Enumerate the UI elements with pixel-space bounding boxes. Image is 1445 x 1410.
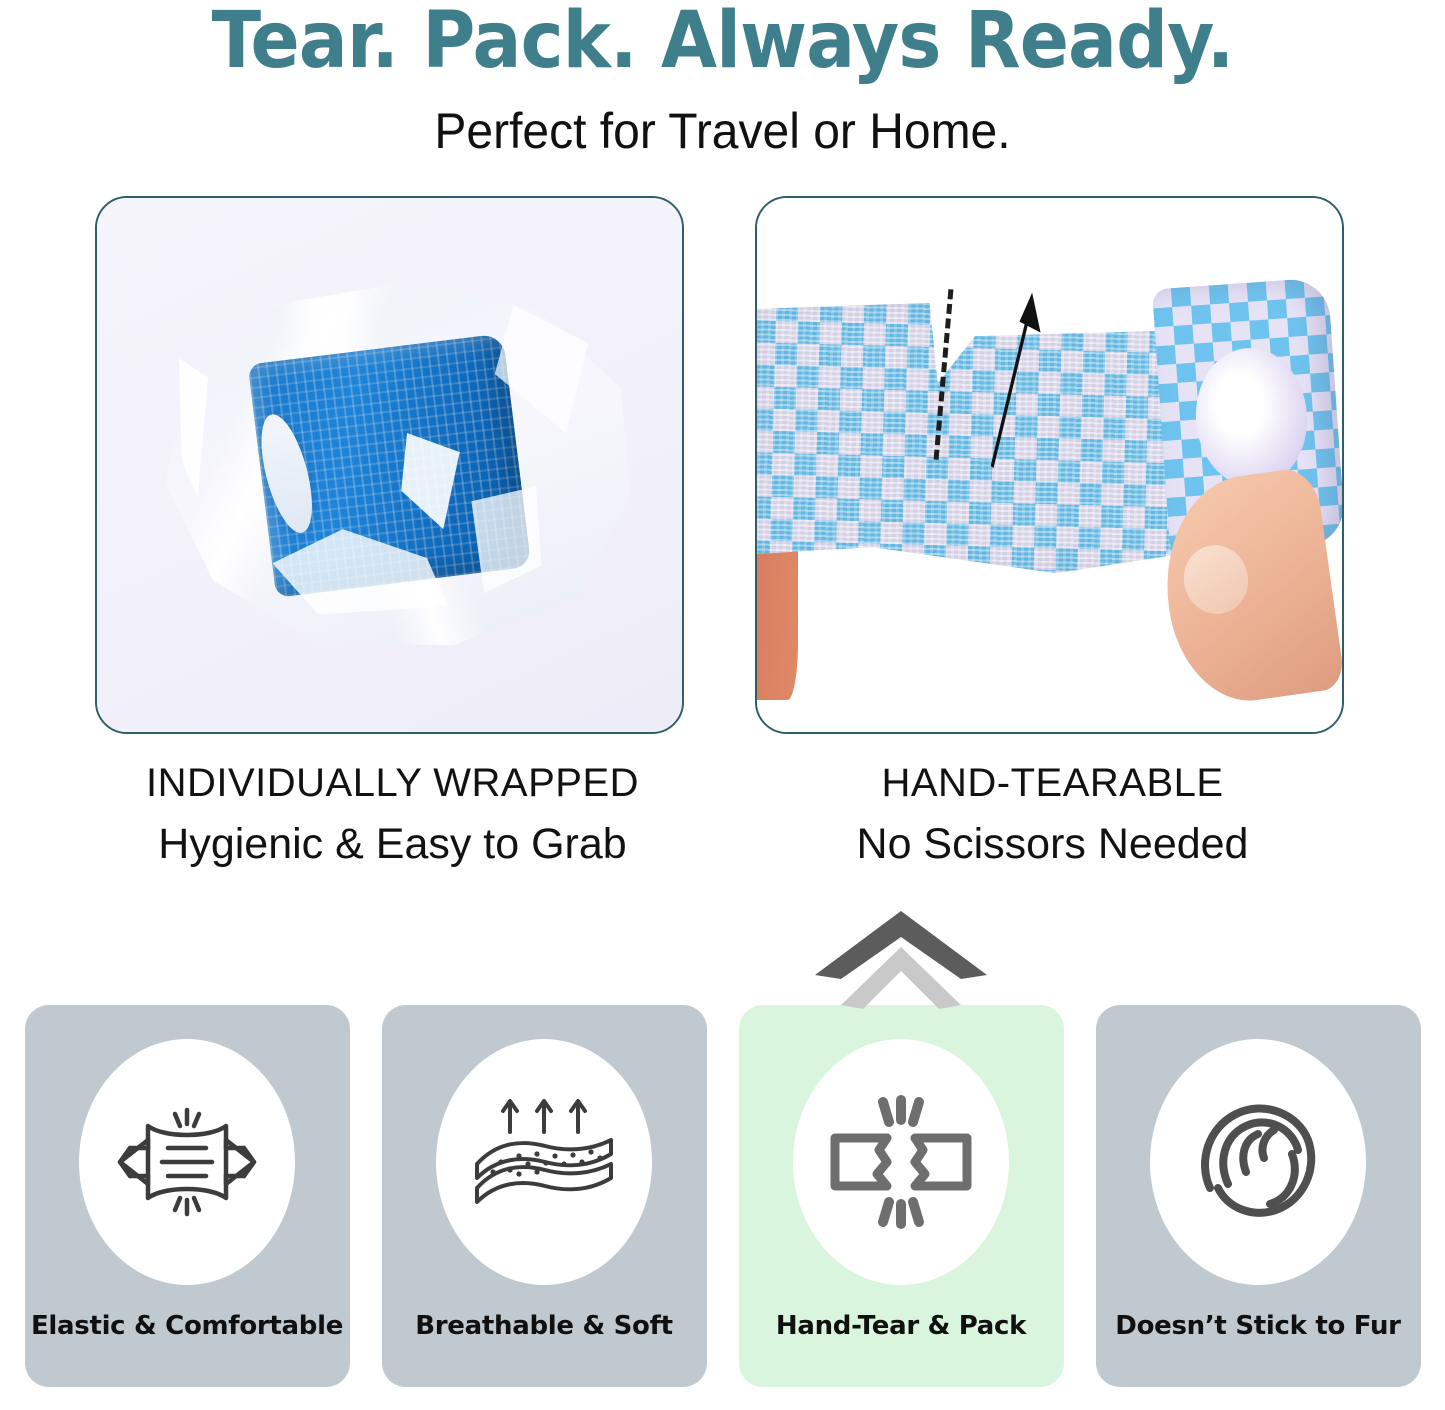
feature-label: Doesn’t Stick to Fur [1096,1311,1421,1341]
feature-label: Breathable & Soft [382,1311,707,1341]
page-headline: Tear. Pack. Always Ready. [51,0,1395,80]
panel-individually-wrapped: INDIVIDUALLY WRAPPED Hygienic & Easy to … [95,196,690,872]
caption-subtitle: No Scissors Needed [755,818,1350,872]
photo-hand-tearable [755,196,1344,734]
feature-card-hand-tear[interactable]: Hand-Tear & Pack [739,1005,1064,1387]
icon-disc [436,1039,652,1285]
torn-strip-icon [821,1094,981,1230]
caption-individually-wrapped: INDIVIDUALLY WRAPPED Hygienic & Easy to … [95,758,690,872]
double-chevron-up-pointer-icon [811,909,991,1013]
feature-card-no-fur-stick[interactable]: Doesn’t Stick to Fur [1096,1005,1421,1387]
feature-card-breathable[interactable]: Breathable & Soft [382,1005,707,1387]
panel-hand-tearable: HAND-TEARABLE No Scissors Needed [755,196,1350,872]
breathable-fabric-icon [467,1092,622,1232]
feature-card-elastic[interactable]: Elastic & Comfortable [25,1005,350,1387]
caption-title: HAND-TEARABLE [755,758,1350,808]
tear-direction-arrow-icon [950,289,1055,471]
photo-individually-wrapped [95,196,684,734]
page-subheadline: Perfect for Travel or Home. [29,106,1416,156]
feature-photo-panels: INDIVIDUALLY WRAPPED Hygienic & Easy to … [0,196,1445,872]
stretch-arrows-icon [112,1092,262,1232]
feature-label: Hand-Tear & Pack [739,1311,1064,1341]
icon-disc [1150,1039,1366,1285]
feature-cards-row: Elastic & Comfortable [0,1005,1445,1387]
caption-hand-tearable: HAND-TEARABLE No Scissors Needed [755,758,1350,872]
caption-title: INDIVIDUALLY WRAPPED [95,758,690,808]
fur-swirl-icon [1188,1092,1328,1232]
icon-disc [793,1039,1009,1285]
feature-label: Elastic & Comfortable [25,1311,350,1341]
icon-disc [79,1039,295,1285]
caption-subtitle: Hygienic & Easy to Grab [95,818,690,872]
